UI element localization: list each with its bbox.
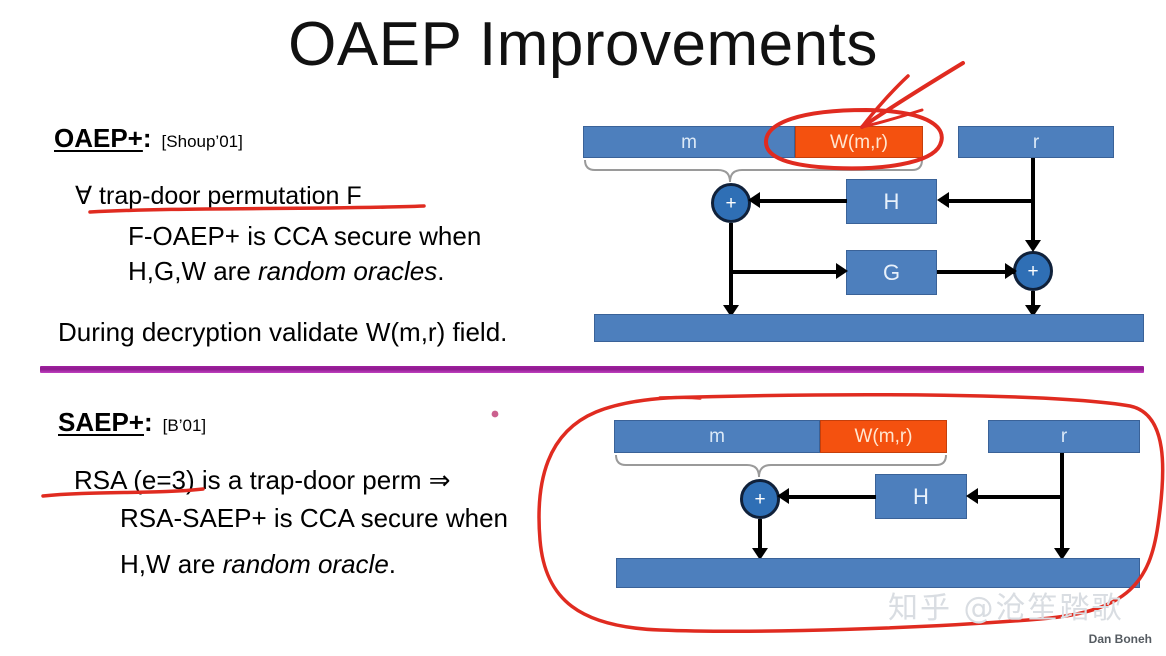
- section-citation-saep-plus: [B’01]: [163, 416, 206, 435]
- diagram-top-wire-g-to-xor2: [937, 270, 1015, 274]
- diagram-top-wire-xor1-to-g: [729, 270, 843, 274]
- diagram-bottom-arrow-to-h: [966, 488, 978, 504]
- diagram-top-wire-r-vertical: [1031, 158, 1035, 248]
- diagram-bottom-bar-m: m: [614, 420, 820, 453]
- diagram-bottom-xor: +: [740, 479, 780, 519]
- section-colon-oaep-plus: :: [143, 123, 152, 153]
- section-divider: [40, 366, 1144, 373]
- diagram-top-wire-h-to-xor1: [755, 199, 847, 203]
- oaep-line-forall: ∀ trap-door permutation F: [75, 182, 362, 210]
- diagram-bottom-wire-r-to-h: [970, 495, 1062, 499]
- diagram-top-bar-m: m: [583, 126, 795, 158]
- slide-canvas: OAEP Improvements OAEP+:[Shoup’01] ∀ tra…: [0, 0, 1166, 656]
- arrow-to-w-barb1-icon: [862, 76, 908, 127]
- section-name-oaep-plus: OAEP+: [54, 123, 143, 153]
- diagram-top-xor-left: +: [711, 183, 751, 223]
- diagram-bottom-arrow-h-to-xor: [777, 488, 789, 504]
- section-heading-oaep-plus: OAEP+:[Shoup’01]: [54, 123, 243, 154]
- section-name-saep-plus: SAEP+: [58, 407, 144, 437]
- diagram-top-bar-output: [594, 314, 1144, 342]
- diagram-bottom-box-h: H: [875, 474, 967, 519]
- diagram-top-bar-w: W(m,r): [795, 126, 923, 158]
- watermark: 知乎 @沧笙踏歌: [888, 583, 1124, 627]
- oaep-line-cca-text: F-OAEP+ is CCA secure when: [128, 221, 481, 251]
- oaep-line-oracles-italic: random oracles: [258, 256, 437, 286]
- diagram-top-arrow-h-to-xor1: [748, 192, 760, 208]
- saep-line-oracle-text: H,W are: [120, 549, 223, 579]
- section-citation-oaep-plus: [Shoup’01]: [162, 132, 243, 151]
- diagram-top-xor-right: +: [1013, 251, 1053, 291]
- oaep-line-oracles-text: H,G,W are: [128, 256, 258, 286]
- saep-line-cca-text: RSA-SAEP+ is CCA secure when: [120, 503, 508, 533]
- oaep-line-validate-text: During decryption validate W(m,r) field.: [58, 317, 507, 347]
- saep-line-rsa-text: RSA (e=3) is a trap-door perm ⇒: [74, 465, 451, 495]
- diagram-bottom-bar-w: W(m,r): [820, 420, 947, 453]
- oaep-line-oracles: H,G,W are random oracles.: [128, 257, 444, 286]
- diagram-top-arrow-to-g: [836, 263, 848, 279]
- oaep-line-oracles-period: .: [437, 256, 444, 286]
- page-title: OAEP Improvements: [0, 14, 1166, 76]
- red-dot-icon: [492, 411, 499, 418]
- oaep-line-forall-text: ∀ trap-door permutation F: [75, 182, 362, 210]
- diagram-top-box-h: H: [846, 179, 937, 224]
- saep-line-rsa: RSA (e=3) is a trap-door perm ⇒: [74, 466, 451, 495]
- saep-line-cca: RSA-SAEP+ is CCA secure when: [120, 504, 508, 533]
- saep-line-oracle: H,W are random oracle.: [120, 550, 396, 579]
- diagram-top-wire-r-to-h: [941, 199, 1033, 203]
- diagram-top-arrow-to-h: [937, 192, 949, 208]
- diagram-bottom-wire-r-vertical: [1060, 453, 1064, 556]
- diagram-top-wire-xor1-down: [729, 223, 733, 313]
- diagram-top-arrow-g-to-xor2: [1005, 263, 1017, 279]
- saep-line-oracle-period: .: [389, 549, 396, 579]
- diagram-bottom-wire-h-to-xor: [784, 495, 876, 499]
- section-heading-saep-plus: SAEP+:[B’01]: [58, 407, 206, 438]
- diagram-top-bar-r: r: [958, 126, 1114, 158]
- saep-line-oracle-italic: random oracle: [223, 549, 389, 579]
- arrow-to-w-barb2-icon: [862, 110, 922, 127]
- author-credit: Dan Boneh: [1089, 632, 1152, 646]
- diagram-top-arrow-r-to-xor2: [1025, 240, 1041, 252]
- oaep-line-validate: During decryption validate W(m,r) field.: [58, 318, 507, 347]
- section-colon-saep-plus: :: [144, 407, 153, 437]
- diagram-bottom-bar-r: r: [988, 420, 1140, 453]
- diagram-top-box-g: G: [846, 250, 937, 295]
- oaep-line-cca: F-OAEP+ is CCA secure when: [128, 222, 481, 251]
